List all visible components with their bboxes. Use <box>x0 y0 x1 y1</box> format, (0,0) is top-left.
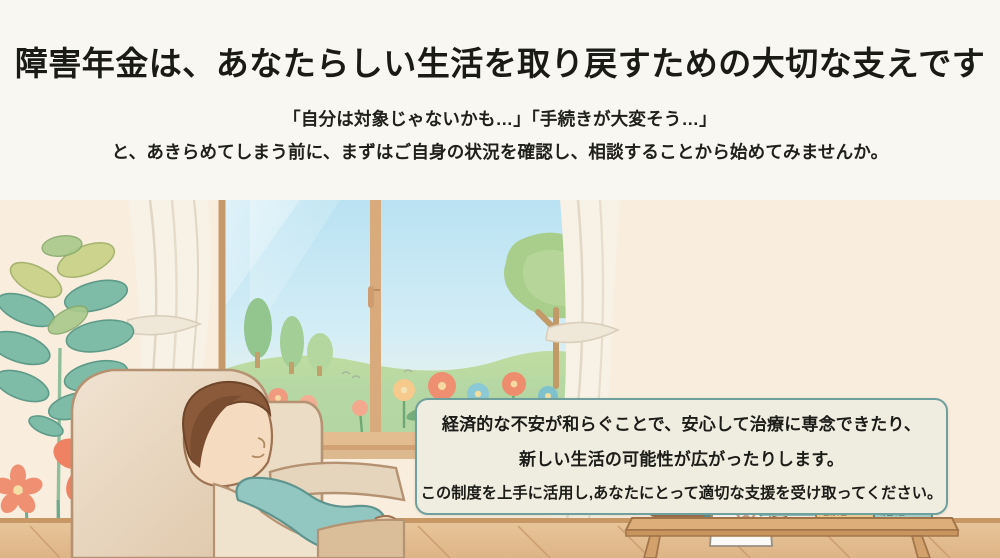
callout-line-2: 新しい生活の可能性が広がったりします。 <box>519 445 844 470</box>
subtitle-line-1: 「自分は対象じゃないかも…」「手続きが大変そう…」 <box>283 106 717 131</box>
page-title: 障害年金は、あなたらしい生活を取り戻すための大切な支えです <box>15 44 986 84</box>
header-section: 障害年金は、あなたらしい生活を取り戻すための大切な支えです 「自分は対象じゃない… <box>0 0 1000 200</box>
callout-line-3: この制度を上手に活用し,あなたにとって適切な支援を受け取ってください。 <box>421 481 943 503</box>
subtitle-line-2: と、あきらめてしまう前に、まずはご自身の状況を確認し、相談することから始めてみま… <box>112 139 889 164</box>
banner-root: 障害年金は、あなたらしい生活を取り戻すための大切な支えです 「自分は対象じゃない… <box>0 0 1000 558</box>
callout-box: 経済的な不安が和らぐことで、安心して治療に専念できたり、 新しい生活の可能性が広… <box>415 398 948 515</box>
shelf-plank <box>626 518 958 530</box>
callout-line-1: 経済的な不安が和らぐことで、安心して治療に専念できたり、 <box>442 410 921 435</box>
